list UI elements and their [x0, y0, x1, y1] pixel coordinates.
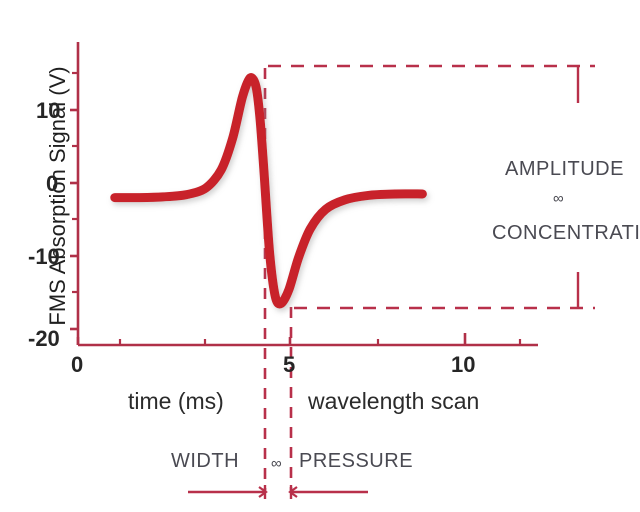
annotation-width: WIDTH: [171, 450, 239, 473]
x-tick-label-5: 5: [283, 352, 295, 378]
x-axis-title-time: time (ms): [128, 388, 224, 415]
annotation-amplitude-proportional: ∞: [553, 190, 564, 207]
x-tick-label-10: 10: [451, 352, 475, 378]
y-tick-label-minus20: -20: [28, 326, 60, 352]
x-axis-ticks: [78, 333, 520, 345]
guide-lines: [265, 66, 595, 492]
chart-figure: FMS Absorption Signal (V) 10 0 -10 -20 0…: [0, 0, 640, 512]
x-tick-label-0: 0: [71, 352, 83, 378]
annotation-pressure: PRESSURE: [299, 450, 413, 473]
annotation-width-proportional: ∞: [271, 455, 282, 472]
y-tick-label-0: 0: [46, 171, 58, 197]
plot-canvas: [0, 0, 640, 512]
width-pressure-arrows: [188, 485, 368, 499]
data-series-fms-signal: [115, 78, 423, 304]
annotation-amplitude: AMPLITUDE: [505, 158, 624, 181]
x-axis-title-wavelength-scan: wavelength scan: [308, 388, 479, 415]
y-tick-label-10: 10: [36, 98, 60, 124]
y-tick-label-minus10: -10: [28, 244, 60, 270]
annotation-concentration: CONCENTRATION: [492, 222, 640, 245]
